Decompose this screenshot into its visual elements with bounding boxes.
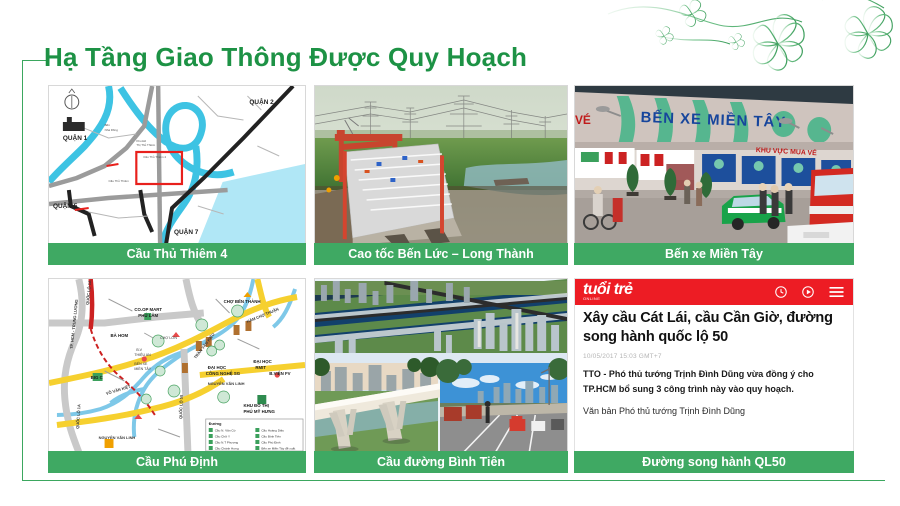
card-caption: Cầu Phú Định bbox=[48, 451, 306, 473]
svg-text:Cầu Chữ Y: Cầu Chữ Y bbox=[215, 434, 230, 438]
card-grid: QUẬN 1 QUẬN 2 QUẬN 5 QUẬN 7 BếnNhà Rồng … bbox=[48, 85, 854, 473]
news-paragraph: Văn bản Phó thủ tướng Trịnh Đình Dũng bbox=[583, 404, 845, 418]
card-cao-toc-ben-luc-long-thanh[interactable]: Cao tốc Bến Lức – Long Thành bbox=[314, 85, 568, 265]
play-circle-icon[interactable] bbox=[801, 285, 815, 299]
svg-text:NGUYỄN VĂN LINH: NGUYỄN VĂN LINH bbox=[99, 435, 136, 440]
svg-text:B.V: B.V bbox=[136, 348, 142, 352]
svg-text:Thị Thủ Thiêm: Thị Thủ Thiêm bbox=[136, 143, 155, 147]
svg-text:Cầu N. Văn Cừ: Cầu N. Văn Cừ bbox=[215, 428, 236, 432]
svg-text:BẾN XE: BẾN XE bbox=[134, 361, 148, 366]
svg-text:Nhà Rồng: Nhà Rồng bbox=[105, 128, 119, 132]
svg-text:QUẬN 5: QUẬN 5 bbox=[53, 201, 78, 210]
thumbnail-photo-highway bbox=[314, 85, 568, 245]
news-headline[interactable]: Xây cầu Cát Lái, cầu Cần Giờ, đường song… bbox=[583, 309, 845, 346]
svg-text:BIG C: BIG C bbox=[91, 375, 104, 380]
card-cau-phu-dinh[interactable]: CO.OP MARTPHÚ LÂM BIG C BÀ HOM CHỢ BẾN T… bbox=[48, 278, 306, 473]
svg-text:ĐẠI HỌC: ĐẠI HỌC bbox=[253, 359, 272, 364]
card-caption: Cầu Thủ Thiêm 4 bbox=[48, 243, 306, 265]
svg-text:CÔNG NGHỆ SG: CÔNG NGHỆ SG bbox=[206, 371, 241, 376]
svg-text:Cầu Bình Tiên: Cầu Bình Tiên bbox=[261, 434, 281, 438]
svg-text:CHỢ BẾN THÀNH: CHỢ BẾN THÀNH bbox=[224, 299, 261, 304]
svg-text:KHU ĐÔ THỊ: KHU ĐÔ THỊ bbox=[243, 403, 268, 408]
svg-text:NGUYỄN VĂN LINH: NGUYỄN VĂN LINH bbox=[208, 381, 245, 386]
news-header-bar: tuổi trẻ ONLINE bbox=[575, 279, 853, 305]
card-caption: Đường song hành QL50 bbox=[574, 451, 854, 473]
card-ben-xe-mien-tay[interactable]: BẾN XE MIỀN TÂY KHU VỰC MUA VÉ VÉ bbox=[574, 85, 854, 265]
svg-text:CHỢ LỚN: CHỢ LỚN bbox=[160, 335, 177, 340]
svg-text:CO.OP MART: CO.OP MART bbox=[134, 307, 162, 312]
card-cau-duong-binh-tien[interactable]: Cầu đường Bình Tiên bbox=[314, 278, 568, 473]
page-title: Hạ Tầng Giao Thông Được Quy Hoạch bbox=[44, 42, 527, 73]
svg-text:PHÚ MỸ HƯNG: PHÚ MỸ HƯNG bbox=[243, 409, 275, 414]
svg-text:Cầu Thủ Thiêm: Cầu Thủ Thiêm bbox=[109, 179, 130, 183]
svg-text:Bến xe Miền Tây đề xuất: Bến xe Miền Tây đề xuất bbox=[261, 446, 295, 450]
thumbnail-map-phu-dinh: CO.OP MARTPHÚ LÂM BIG C BÀ HOM CHỢ BẾN T… bbox=[48, 278, 306, 453]
svg-text:QUẬN 2: QUẬN 2 bbox=[249, 97, 274, 106]
slide-root: Hạ Tầng Giao Thông Được Quy Hoạch bbox=[0, 0, 900, 506]
card-duong-song-hanh-ql50[interactable]: tuổi trẻ ONLINE bbox=[574, 278, 854, 473]
svg-text:Đường: Đường bbox=[209, 422, 222, 426]
news-body: Xây cầu Cát Lái, cầu Cần Giờ, đường song… bbox=[583, 309, 845, 419]
svg-text:Cầu Chánh Hưng: Cầu Chánh Hưng bbox=[215, 446, 239, 450]
news-lead-paragraph: TTO - Phó thủ tướng Trịnh Đình Dũng vừa … bbox=[583, 367, 845, 396]
svg-text:RMIT: RMIT bbox=[255, 365, 266, 370]
card-caption: Cao tốc Bến Lức – Long Thành bbox=[314, 243, 568, 265]
svg-text:Cầu Hoàng Diệu: Cầu Hoàng Diệu bbox=[261, 428, 284, 432]
floral-ornament-icon bbox=[596, 0, 900, 84]
svg-text:PHÚ LÂM: PHÚ LÂM bbox=[138, 313, 158, 318]
svg-text:Cầu Phú Định: Cầu Phú Định bbox=[261, 440, 280, 444]
news-timestamp: 10/05/2017 15:03 GMT+7 bbox=[583, 353, 845, 360]
thumbnail-news-article: tuổi trẻ ONLINE bbox=[574, 278, 854, 453]
svg-text:ĐẠI HỌC: ĐẠI HỌC bbox=[208, 365, 227, 370]
svg-text:Cầu N.T Phương: Cầu N.T Phương bbox=[215, 440, 239, 444]
svg-text:THIỆU AN: THIỆU AN bbox=[134, 352, 151, 357]
card-cau-thu-thiem-4[interactable]: QUẬN 1 QUẬN 2 QUẬN 5 QUẬN 7 BếnNhà Rồng … bbox=[48, 85, 306, 265]
hamburger-menu-icon[interactable] bbox=[828, 285, 845, 299]
card-caption: Cầu đường Bình Tiên bbox=[314, 451, 568, 473]
svg-text:BÀ HOM: BÀ HOM bbox=[111, 333, 129, 338]
svg-text:QUẬN 7: QUẬN 7 bbox=[174, 227, 199, 236]
thumbnail-photo-bus-station: BẾN XE MIỀN TÂY KHU VỰC MUA VÉ VÉ bbox=[574, 85, 854, 245]
thumbnail-map-thu-thiem: QUẬN 1 QUẬN 2 QUẬN 5 QUẬN 7 BếnNhà Rồng … bbox=[48, 85, 306, 245]
svg-text:QUỐC LỘ 50: QUỐC LỘ 50 bbox=[178, 394, 184, 419]
svg-text:QUẬN 1: QUẬN 1 bbox=[63, 133, 88, 142]
svg-text:MIỀN TÂY: MIỀN TÂY bbox=[134, 366, 151, 371]
card-caption: Bến xe Miền Tây bbox=[574, 243, 854, 265]
thumbnail-photo-collage bbox=[314, 278, 568, 453]
tuoi-tre-logo[interactable]: tuổi trẻ ONLINE bbox=[583, 282, 632, 301]
svg-text:B.VIỆN FV: B.VIỆN FV bbox=[269, 371, 290, 376]
news-header-icons bbox=[774, 285, 845, 299]
clock-icon[interactable] bbox=[774, 285, 788, 299]
tuoi-tre-logo-subtext: ONLINE bbox=[583, 297, 632, 301]
news-article: tuổi trẻ ONLINE bbox=[575, 279, 853, 452]
svg-text:Cầu Thủ Thiêm 4: Cầu Thủ Thiêm 4 bbox=[143, 155, 166, 159]
tuoi-tre-logo-text: tuổi trẻ bbox=[583, 281, 632, 298]
svg-text:Bến: Bến bbox=[105, 123, 111, 127]
svg-text:VÉ: VÉ bbox=[575, 112, 591, 127]
